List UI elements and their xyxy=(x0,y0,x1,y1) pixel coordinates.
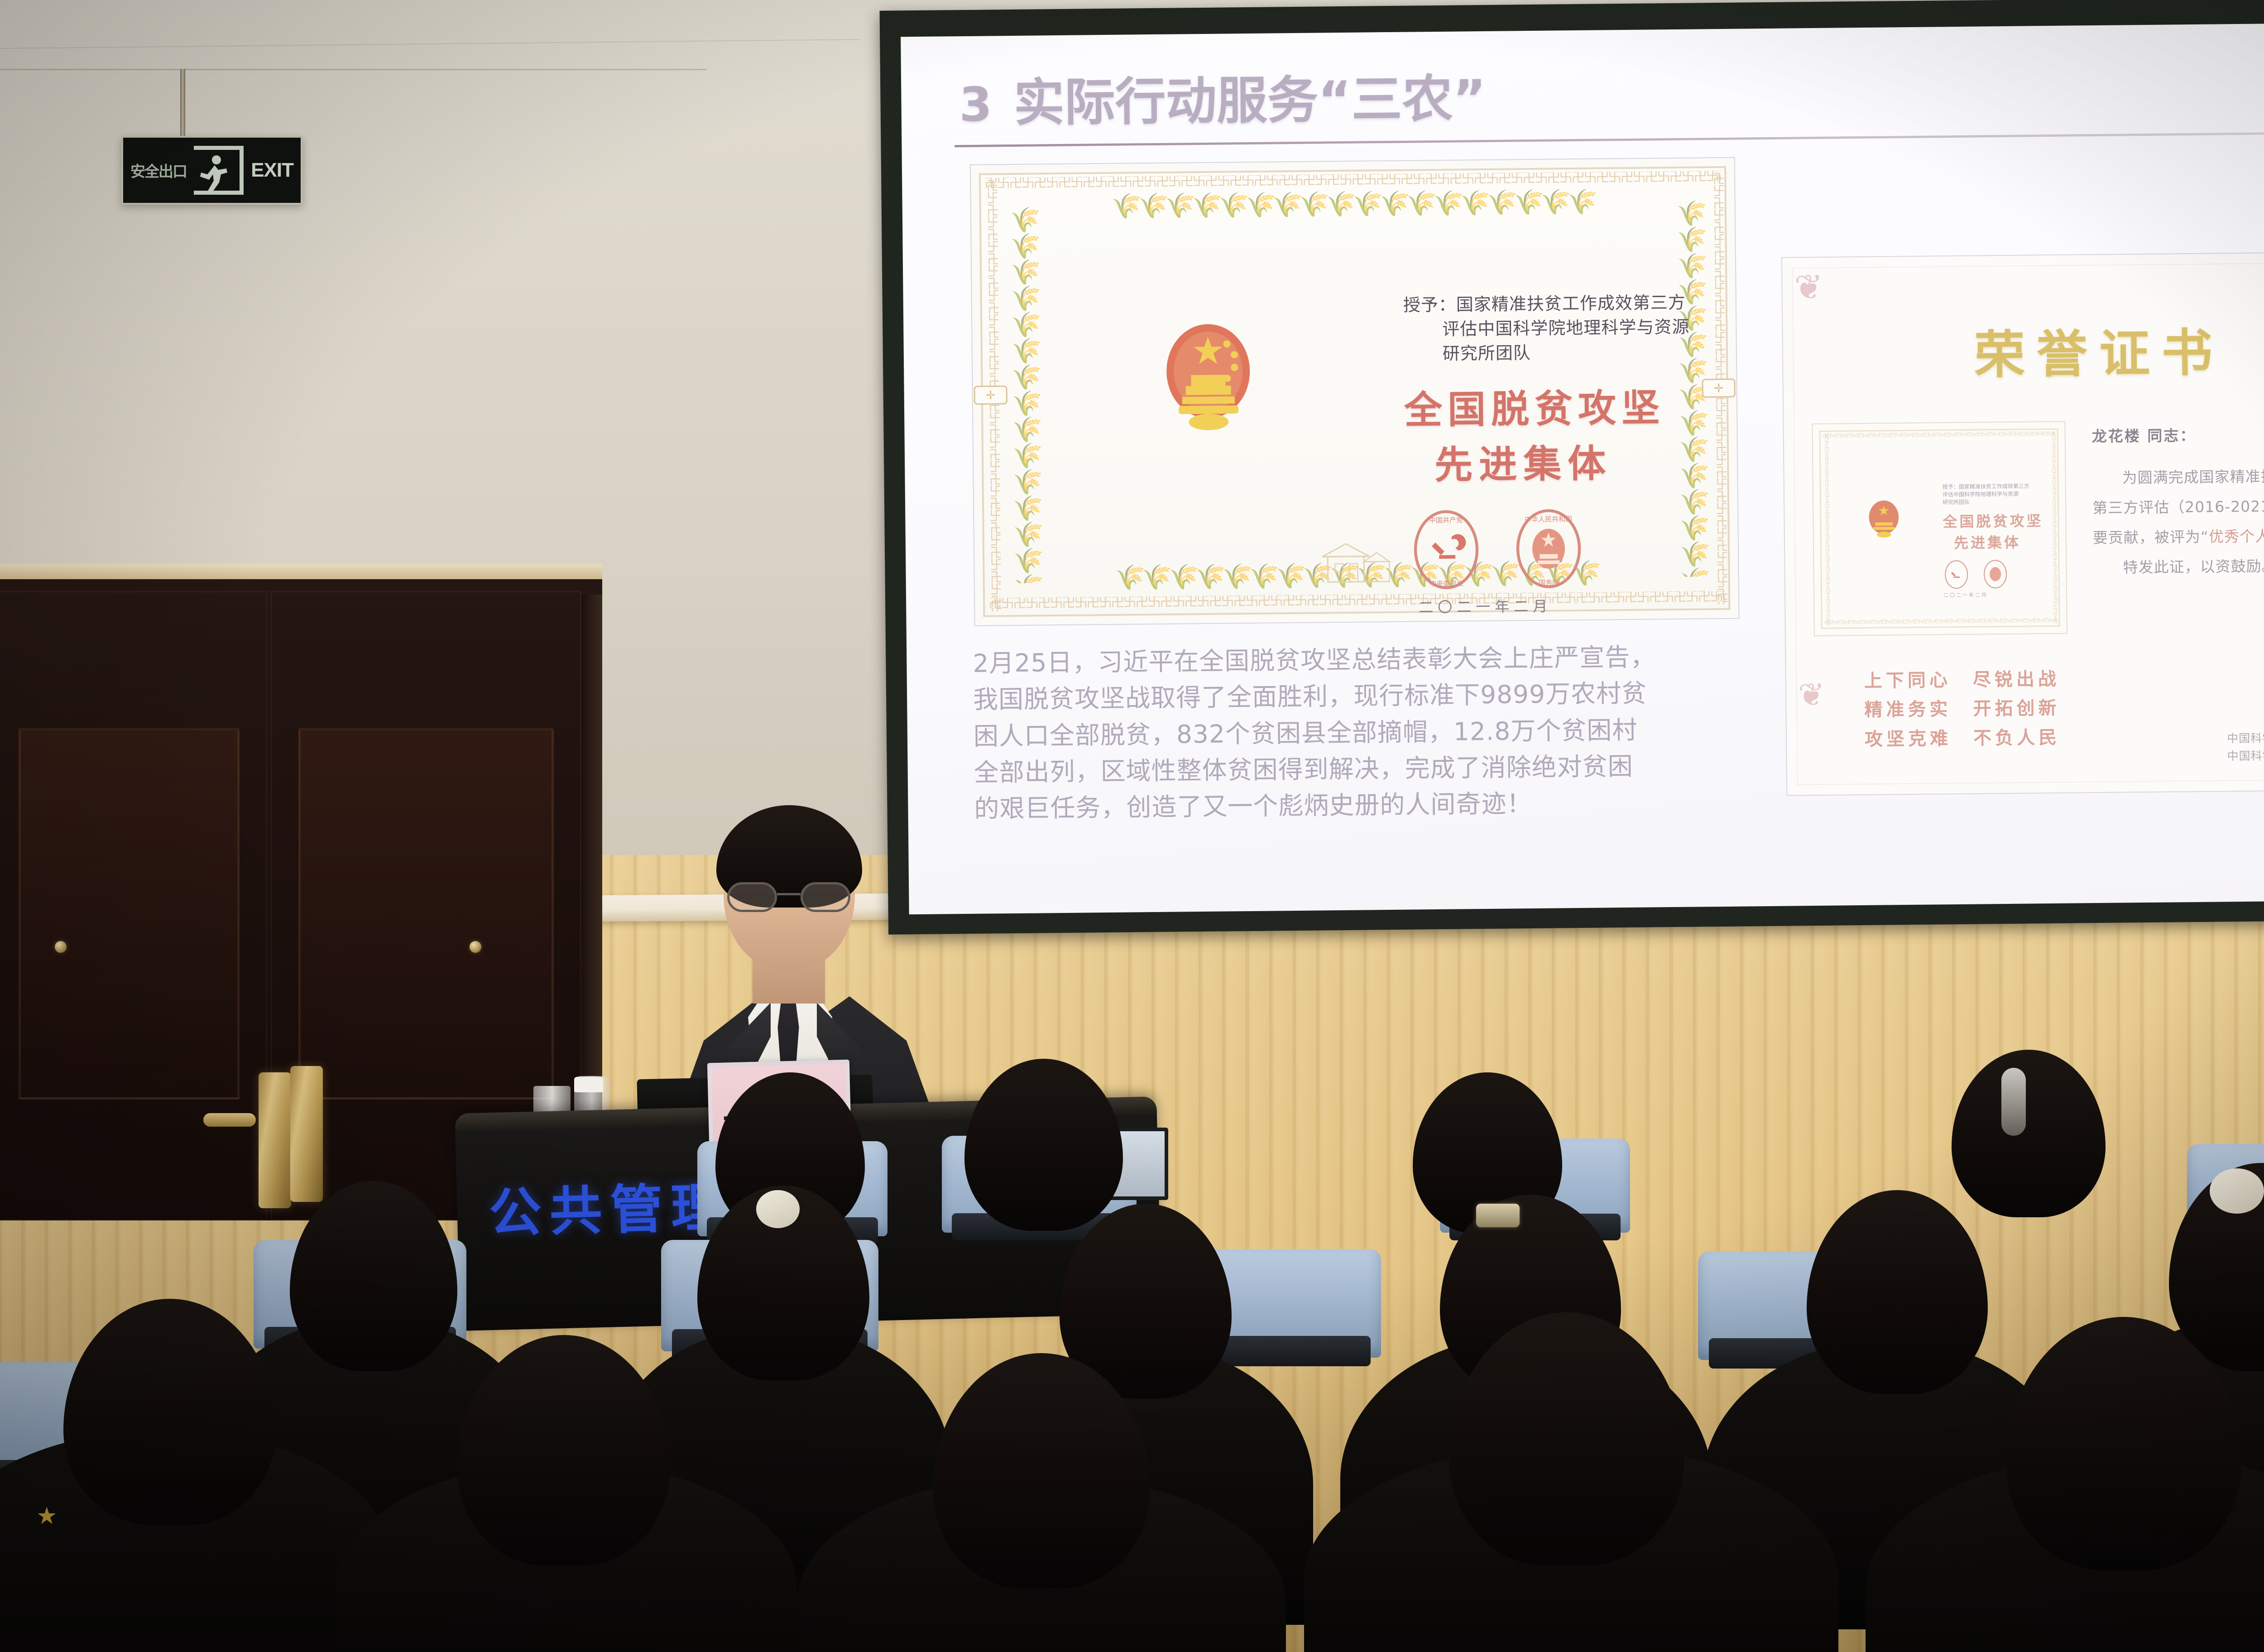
slide-paragraph: 2月25日，习近平在全国脱贫攻坚总结表彰大会上庄严宣告， 我国脱贫攻坚战取得了全… xyxy=(973,638,1771,827)
audience-head-b2 xyxy=(964,1059,1123,1231)
door-lintel xyxy=(0,564,602,579)
svg-text:中国共产党: 中国共产党 xyxy=(1429,516,1463,525)
honor-certificate-title: 荣誉证书 xyxy=(1783,310,2264,389)
award-title: 全国脱贫攻坚 先进集体 xyxy=(1404,380,1722,493)
miniature-national-emblem-icon xyxy=(1865,498,1903,541)
official-seals-row: 中国共产党 中央委员会 中华人民共 xyxy=(1405,507,1723,591)
award-to-line-3: 研究所团队 xyxy=(1404,339,1721,367)
honor-para1-prefix: 要贡献，被评为“ xyxy=(2093,528,2209,547)
star-badge-icon: ★ xyxy=(36,1503,58,1530)
award-issue-date: 二〇二一年二月 xyxy=(1406,593,1723,617)
emergency-exit-sign: 安全出口 EXIT xyxy=(121,136,302,205)
slogan-line-2: 精准务实 开拓创新 xyxy=(1864,693,2100,725)
audience-head-b4 xyxy=(1952,1050,2106,1217)
village-house-ornament-icon xyxy=(1304,537,1409,588)
award-to-line-2: 评估中国科学院地理科学与资源 xyxy=(1403,315,1720,342)
audience-head-m5 xyxy=(1807,1190,1988,1394)
door-panel-left xyxy=(19,728,240,1100)
door-panel-right xyxy=(298,728,554,1100)
honor-recipient-name: 龙花楼 同志： xyxy=(2091,419,2264,451)
exit-sign-label-english: EXIT xyxy=(251,159,293,182)
clasp-ornament-left: ✛ xyxy=(974,385,1007,405)
honor-para1-line-c: 要贡献，被评为“优秀个人”。 xyxy=(2093,520,2264,553)
mini-award-title: 全国脱贫攻坚 先进集体 xyxy=(1943,510,2062,553)
issuing-org-line-1: 中国科学院地理科学与资源研究所 xyxy=(2227,728,2264,747)
hair-scrunchie-m6 xyxy=(2210,1168,2264,1214)
mini-award-to-3: 研究所团队 xyxy=(1943,497,2061,506)
cpc-central-committee-seal-icon: 中国共产党 中央委员会 xyxy=(1411,510,1481,591)
hair-clip-m4 xyxy=(1476,1204,1520,1227)
slogan-line-1: 上下同心 尽锐出战 xyxy=(1864,664,2100,696)
certificate-border-frame: 卍卐卍卐卍卐卍卐卍卐卍卐卍卐卍卐卍卐卍卐卍卐卍卐卍卐卍卐卍卐卍卐卍卐卍卐卍卐卍卐… xyxy=(979,166,1730,617)
honor-para2: 特发此证，以资鼓励。 xyxy=(2093,550,2264,583)
door-stud-right xyxy=(470,941,481,953)
award-to-line-1: 授予：国家精准扶贫工作成效第三方 xyxy=(1403,293,1686,315)
award-title-line-1: 全国脱贫攻坚 xyxy=(1404,385,1665,432)
audience-seating-area: ★ xyxy=(0,1045,2264,1652)
honor-para1-line-b: 第三方评估（2016-2021年）做出了重 xyxy=(2092,490,2264,523)
mini-award-title-2: 先进集体 xyxy=(1943,532,2062,554)
eyeglass-lens-left xyxy=(727,882,777,912)
mini-greek-key-top: 卍卐卍卐卍卐卍卐卍卐卍卐卍卐卍卐卍卐卍卐卍卐卍卐卍卐卍卐卍卐卍卐卍卐卍卐卍卐卍卐… xyxy=(1823,431,2055,440)
mini-state-council-seal-icon xyxy=(1982,559,2009,590)
running-man-glyph xyxy=(197,154,230,193)
projection-screen-frame: 3 实际行动服务“三农” 卍卐卍卐卍卐卍卐卍卐卍卐卍卐卍卐卍卐卍卐卍卐卍卐卍卐卍… xyxy=(880,0,2264,935)
award-recipient-lines: 授予：国家精准扶贫工作成效第三方 评估中国科学院地理科学与资源 研究所团队 xyxy=(1403,290,1721,367)
hair-scrunchie-m2 xyxy=(756,1190,800,1228)
door-stud-left xyxy=(55,941,67,953)
miniature-collective-certificate: 卍卐卍卐卍卐卍卐卍卐卍卐卍卐卍卐卍卐卍卐卍卐卍卐卍卐卍卐卍卐卍卐卍卐卍卐卍卐卍卐… xyxy=(1812,421,2067,636)
floral-flourish-bottom-left: ❦ xyxy=(1798,676,1825,714)
slogan-line-3: 攻坚克难 不负人民 xyxy=(1865,723,2101,754)
mini-greek-key-left: 卍卐卍卐卍卐卍卐卍卐卍卐卍卐卍卐卍卐卍卐卍卐卍卐卍卐卍卐卍卐卍卐卍卐卍卐卍卐卍卐… xyxy=(1822,434,1831,626)
svg-text:中央委员会: 中央委员会 xyxy=(1429,580,1463,588)
issuing-org-date: 二〇二二年二月二十五日 xyxy=(2227,764,2264,783)
state-council-seal-icon: 中华人民共和国 国务院 xyxy=(1514,509,1583,590)
eyeglass-lens-right xyxy=(801,882,850,912)
exit-sign-mount-rod xyxy=(180,69,185,137)
issuing-org-line-2: 中国科学院精准扶贫评估研究中心 xyxy=(2227,746,2264,765)
slide-body: 卍卐卍卐卍卐卍卐卍卐卍卐卍卐卍卐卍卐卍卐卍卐卍卐卍卐卍卐卍卐卍卐卍卐卍卐卍卐卍卐… xyxy=(951,133,2264,854)
hair-accessory-pin xyxy=(2001,1068,2026,1136)
mini-seals-row xyxy=(1943,559,2062,590)
honor-para1-highlight: 优秀个人 xyxy=(2209,527,2264,545)
lecture-hall-scene: 安全出口 EXIT xyxy=(0,0,2264,1652)
audience-head-m1 xyxy=(290,1181,457,1371)
certificate-honor-individual: ❦ ❦ ❦ ❦ 荣誉证书 卍卐卍卐卍卐卍卐卍卐卍卐卍卐卍卐卍卐卍卐卍卐卍卐卍卐卍… xyxy=(1781,251,2264,796)
exit-sign-label-chinese: 安全出口 xyxy=(130,159,187,181)
award-title-line-2: 先进集体 xyxy=(1405,435,1722,494)
miniature-certificate-border: 卍卐卍卐卍卐卍卐卍卐卍卐卍卐卍卐卍卐卍卐卍卐卍卐卍卐卍卐卍卐卍卐卍卐卍卐卍卐卍卐… xyxy=(1819,428,2060,629)
mini-greek-key-bottom: 卍卐卍卐卍卐卍卐卍卐卍卐卍卐卍卐卍卐卍卐卍卐卍卐卍卐卍卐卍卐卍卐卍卐卍卐卍卐卍卐… xyxy=(1824,618,2057,626)
miniature-certificate-text: 授予：国家精准扶贫工作成效第三方 评估中国科学院地理科学与资源 研究所团队 全国… xyxy=(1943,482,2062,599)
mini-cpc-seal-icon xyxy=(1943,560,1970,590)
speaker-eyeglasses xyxy=(727,882,850,912)
certificate-text-block: 授予：国家精准扶贫工作成效第三方 评估中国科学院地理科学与资源 研究所团队 全国… xyxy=(1403,290,1723,617)
presentation-slide: 3 实际行动服务“三农” 卍卐卍卐卍卐卍卐卍卐卍卐卍卐卍卐卍卐卍卐卍卐卍卐卍卐卍… xyxy=(901,22,2264,914)
paragraph-line-5: 的艰巨任务，创造了又一个彪炳史册的人间奇迹！ xyxy=(974,783,1771,827)
poverty-alleviation-slogan: 上下同心 尽锐出战 精准务实 开拓创新 攻坚克难 不负人民 xyxy=(1864,664,2101,754)
svg-text:国务院: 国务院 xyxy=(1539,579,1559,587)
svg-text:中华人民共和国: 中华人民共和国 xyxy=(1525,515,1572,524)
slide-title-number: 3 xyxy=(959,77,993,132)
slide-title-text: 实际行动服务“三农” xyxy=(1013,58,1487,135)
issuing-organization-block: 中国科学院地理科学与资源研究所 中国科学院精准扶贫评估研究中心 二〇二二年二月二… xyxy=(2227,728,2264,783)
projection-screen-surface: 3 实际行动服务“三农” 卍卐卍卐卍卐卍卐卍卐卍卐卍卐卍卐卍卐卍卐卍卐卍卐卍卐卍… xyxy=(901,22,2264,914)
honor-para1-line-a: 为圆满完成国家精准扶贫工作成效 xyxy=(2092,461,2264,493)
floral-flourish-top-left: ❦ xyxy=(1794,267,1823,307)
national-emblem-icon xyxy=(1154,318,1262,438)
mini-award-title-1: 全国脱贫攻坚 xyxy=(1943,513,2043,530)
running-man-exit-icon xyxy=(194,146,244,195)
ceiling-seam xyxy=(0,69,706,70)
slide-title: 3 实际行动服务“三农” xyxy=(951,48,2264,136)
certificate-national-collective: 卍卐卍卐卍卐卍卐卍卐卍卐卍卐卍卐卍卐卍卐卍卐卍卐卍卐卍卐卍卐卍卐卍卐卍卐卍卐卍卐… xyxy=(970,157,1740,626)
eyeglass-bridge xyxy=(777,893,801,895)
audience-head-f1 xyxy=(63,1299,276,1525)
wheat-ornament-top: 🌾🌾🌾🌾🌾🌾🌾🌾🌾🌾🌾🌾🌾🌾🌾🌾🌾🌾 xyxy=(1002,186,1704,226)
honor-certificate-body: 龙花楼 同志： 为圆满完成国家精准扶贫工作成效 第三方评估（2016-2021年… xyxy=(2091,419,2264,583)
mini-award-date: 二〇二一年二月 xyxy=(1943,591,2062,599)
